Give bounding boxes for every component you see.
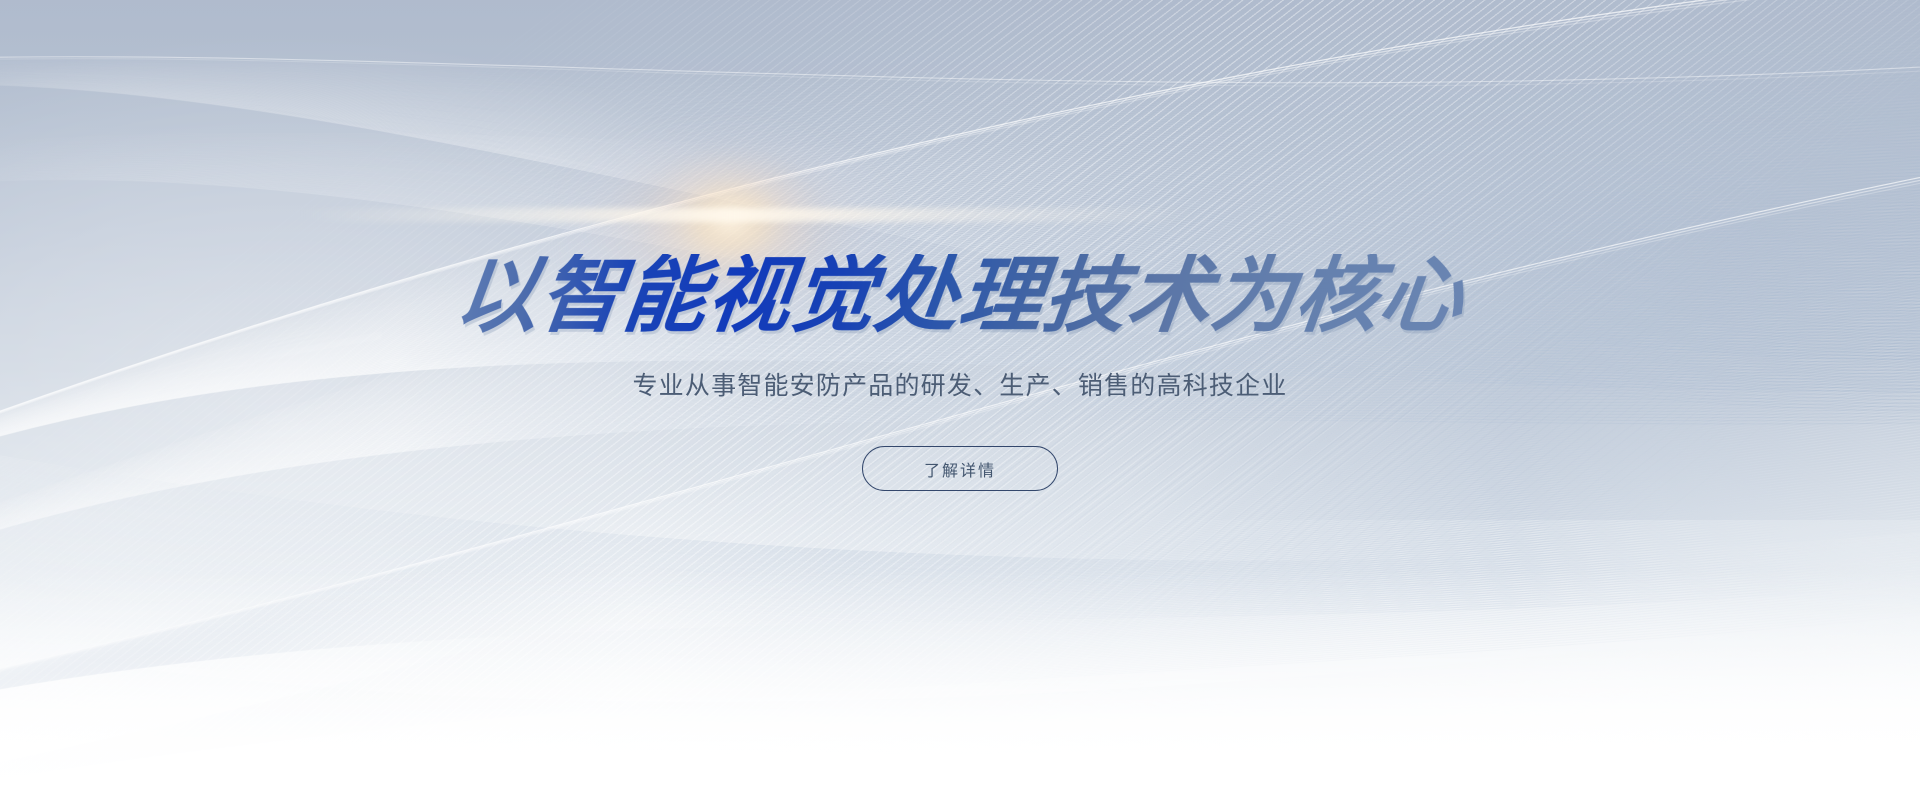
hero-banner: 以智能视觉处理技术为核心 专业从事智能安防产品的研发、生产、销售的高科技企业 了… bbox=[0, 0, 1920, 800]
hero-subtitle: 专业从事智能安防产品的研发、生产、销售的高科技企业 bbox=[632, 371, 1287, 401]
lens-flare-streak bbox=[300, 208, 1200, 222]
learn-more-button[interactable]: 了解详情 bbox=[862, 446, 1058, 491]
left-light-wash bbox=[0, 40, 880, 800]
top-tint-overlay bbox=[0, 0, 1920, 170]
page-title: 以智能视觉处理技术为核心 bbox=[451, 254, 1469, 337]
hero-content: 以智能视觉处理技术为核心 专业从事智能安防产品的研发、生产、销售的高科技企业 了… bbox=[0, 0, 1920, 800]
bottom-white-fade bbox=[0, 570, 1920, 800]
